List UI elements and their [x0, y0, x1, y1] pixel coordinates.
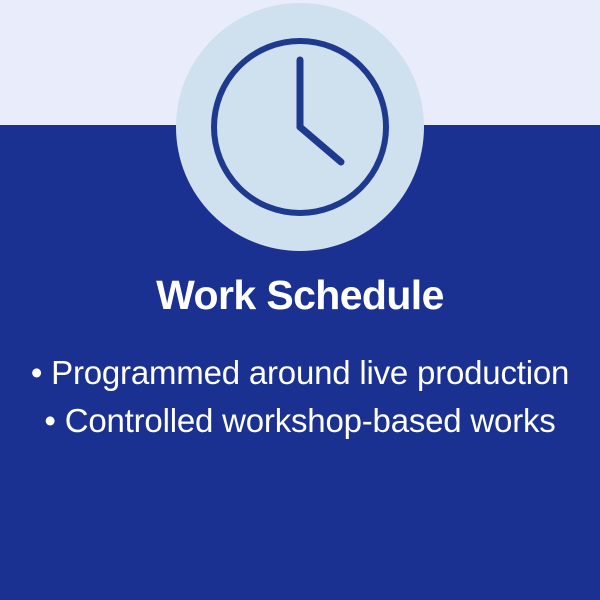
feature-bullet-list: • Programmed around live production • Co…	[0, 349, 600, 445]
page-title: Work Schedule	[0, 272, 600, 319]
work-schedule-card: Work Schedule • Programmed around live p…	[0, 0, 600, 600]
list-item: • Programmed around live production	[0, 349, 600, 397]
card-text-block: Work Schedule • Programmed around live p…	[0, 272, 600, 445]
list-item: • Controlled workshop-based works	[0, 397, 600, 445]
clock-icon	[176, 3, 424, 251]
